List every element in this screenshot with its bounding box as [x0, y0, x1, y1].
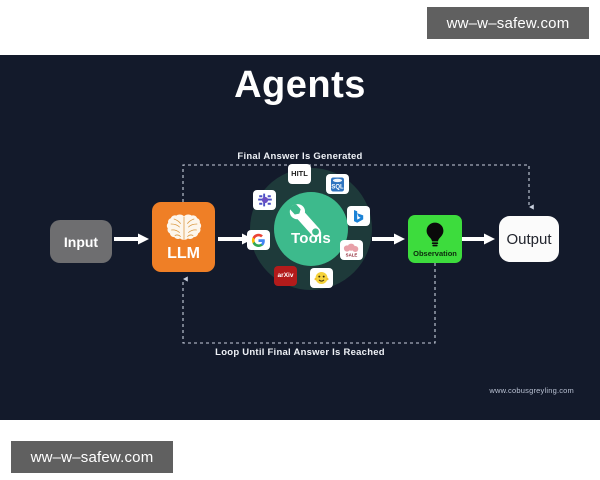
bing-icon[interactable] — [347, 206, 370, 226]
node-tools-label: Tools — [274, 230, 348, 247]
final-answer-label: Final Answer Is Generated — [0, 151, 600, 162]
loop-until-final-answer-label: Loop Until Final Answer Is Reached — [0, 347, 600, 358]
bottom-watermark-banner: ww–w–safew.com — [11, 441, 173, 473]
source-url-watermark: www.cobusgreyling.com — [489, 386, 574, 395]
page-title: Agents — [0, 64, 600, 107]
brain-icon — [165, 213, 203, 245]
arxiv-icon-label: arXiv — [278, 273, 294, 280]
bing-glyph — [350, 208, 367, 225]
top-watermark-text: ww–w–safew.com — [447, 15, 570, 32]
hitl-icon[interactable]: HITL — [288, 164, 311, 184]
bottom-watermark-text: ww–w–safew.com — [31, 449, 154, 466]
scipy-glyph — [257, 192, 273, 208]
lightbulb-icon — [422, 221, 448, 249]
salesforce-icon[interactable]: SALE — [340, 240, 363, 260]
svg-text:SQL: SQL — [331, 184, 344, 190]
top-watermark-banner: ww–w–safew.com — [427, 7, 589, 39]
node-llm-label: LLM — [167, 246, 200, 262]
node-observation[interactable]: Observation — [408, 215, 462, 263]
arrow-tools-to-observation — [372, 233, 406, 245]
sql-database-glyph: SQL — [329, 176, 346, 193]
node-observation-label: Observation — [413, 250, 457, 258]
node-input-label: Input — [64, 234, 98, 250]
node-output-label: Output — [506, 231, 551, 248]
node-output[interactable]: Output — [499, 216, 559, 262]
google-glyph — [251, 233, 266, 248]
arxiv-icon[interactable]: arXiv — [274, 266, 297, 286]
tools-cluster[interactable]: Tools HITL SQL S — [250, 168, 372, 290]
arrow-input-to-llm — [114, 233, 150, 245]
arrow-observation-to-output — [460, 233, 496, 245]
google-icon[interactable] — [247, 230, 270, 250]
node-input[interactable]: Input — [50, 220, 112, 263]
node-tools[interactable]: Tools — [274, 192, 348, 266]
slide-panel: Agents Final Answer Is Generated Loop Un… — [0, 55, 600, 420]
sql-database-icon[interactable]: SQL — [326, 174, 349, 194]
scipy-icon[interactable] — [253, 190, 276, 210]
hitl-icon-label: HITL — [291, 170, 308, 178]
node-llm[interactable]: LLM — [152, 202, 215, 272]
svg-text:SALE: SALE — [346, 252, 358, 257]
salesforce-glyph: SALE — [342, 242, 361, 258]
huggingface-glyph — [313, 270, 330, 287]
huggingface-icon[interactable] — [310, 268, 333, 288]
